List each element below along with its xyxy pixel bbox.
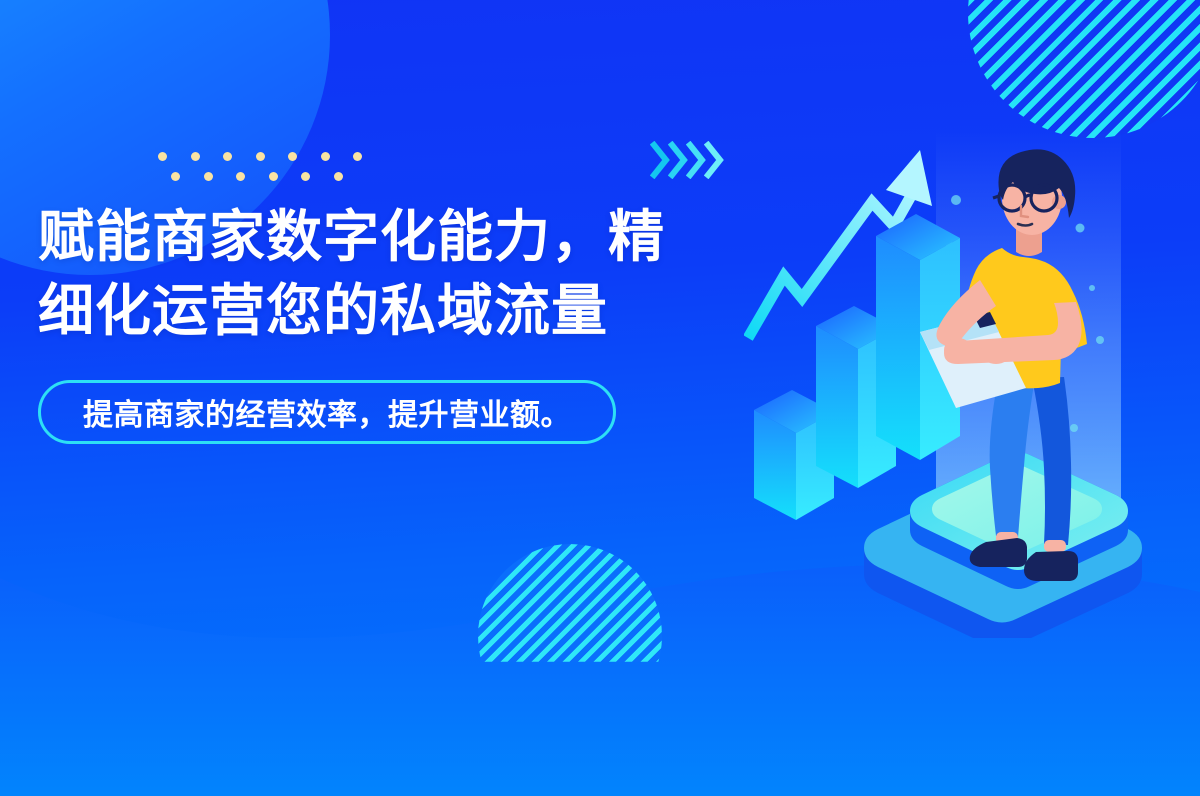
dot <box>236 172 245 181</box>
dot <box>301 172 310 181</box>
shoe-right <box>1024 551 1078 581</box>
dot-row-two <box>171 172 362 181</box>
dot <box>223 152 232 161</box>
hand-right <box>981 340 1011 364</box>
subtitle-pill: 提高商家的经营效率，提升营业额。 <box>38 380 616 444</box>
dot <box>256 152 265 161</box>
illustration-svg <box>744 128 1200 638</box>
dot <box>334 172 343 181</box>
subtitle-text: 提高商家的经营效率，提升营业额。 <box>83 390 571 434</box>
banner-text-block: 赋能商家数字化能力，精 细化运营您的私域流量 提高商家的经营效率，提升营业额。 <box>38 200 778 444</box>
dot <box>204 172 213 181</box>
dot <box>158 152 167 161</box>
dot-row-one <box>158 152 362 161</box>
dot <box>191 152 200 161</box>
dot <box>171 172 180 181</box>
hand-left <box>944 338 972 362</box>
striped-circle-top-right-decoration <box>968 0 1200 138</box>
dot <box>321 152 330 161</box>
dot <box>269 172 278 181</box>
bar-chart-3d <box>754 214 960 520</box>
headline: 赋能商家数字化能力，精 细化运营您的私域流量 <box>38 200 778 348</box>
dot-grid-decoration <box>158 152 362 181</box>
chevron-arrows-decoration <box>654 141 726 179</box>
chevron-right-icon <box>704 141 726 179</box>
hero-illustration <box>744 128 1200 638</box>
promo-banner: 赋能商家数字化能力，精 细化运营您的私域流量 提高商家的经营效率，提升营业额。 <box>0 0 1200 796</box>
dot <box>288 152 297 161</box>
dot <box>353 152 362 161</box>
